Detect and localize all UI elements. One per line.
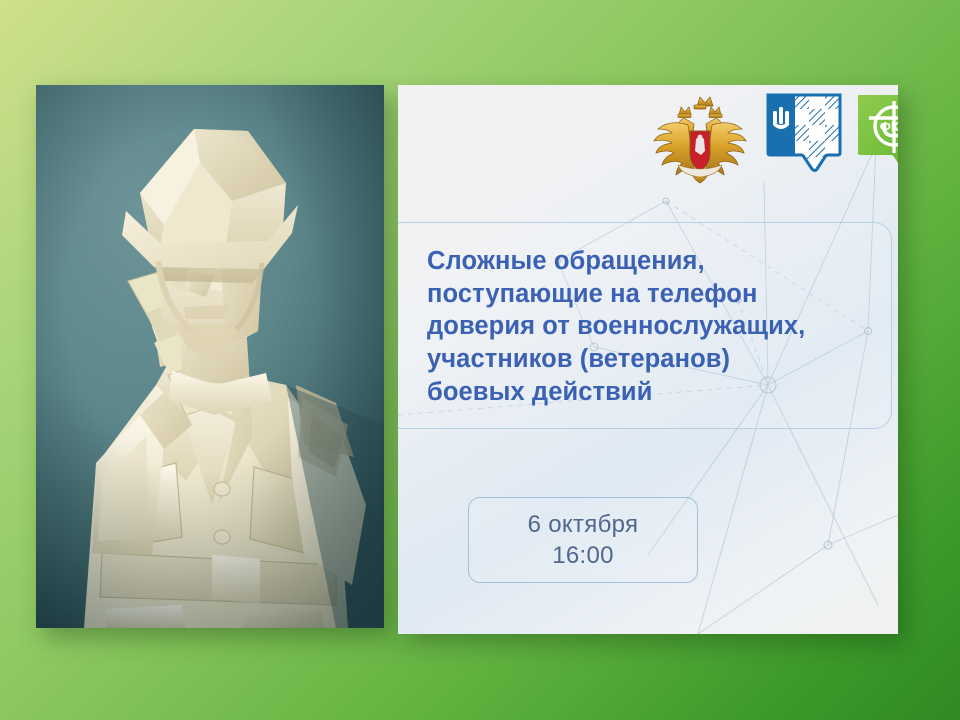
title-box: Сложные обращения, поступающие на телефо…: [398, 222, 892, 429]
event-date-box: 6 октября 16:00: [468, 497, 698, 583]
logo-row: ФКЦ: [648, 93, 898, 194]
soldier-photo: [36, 85, 384, 628]
photo-vignette: [36, 85, 384, 628]
russian-double-headed-eagle-emblem-icon: [648, 93, 752, 194]
fkc-green-shield-logo-icon: ФКЦ: [856, 93, 898, 194]
announcement-card: ФКЦ Сложные обращения, поступающие на те…: [398, 85, 898, 634]
blue-shield-checkered-logo-icon: [766, 93, 842, 194]
fkc-logo-text: ФКЦ: [880, 119, 898, 134]
event-date: 6 октября: [528, 510, 639, 539]
page-title: Сложные обращения, поступающие на телефо…: [427, 245, 881, 408]
event-time: 16:00: [552, 541, 614, 570]
